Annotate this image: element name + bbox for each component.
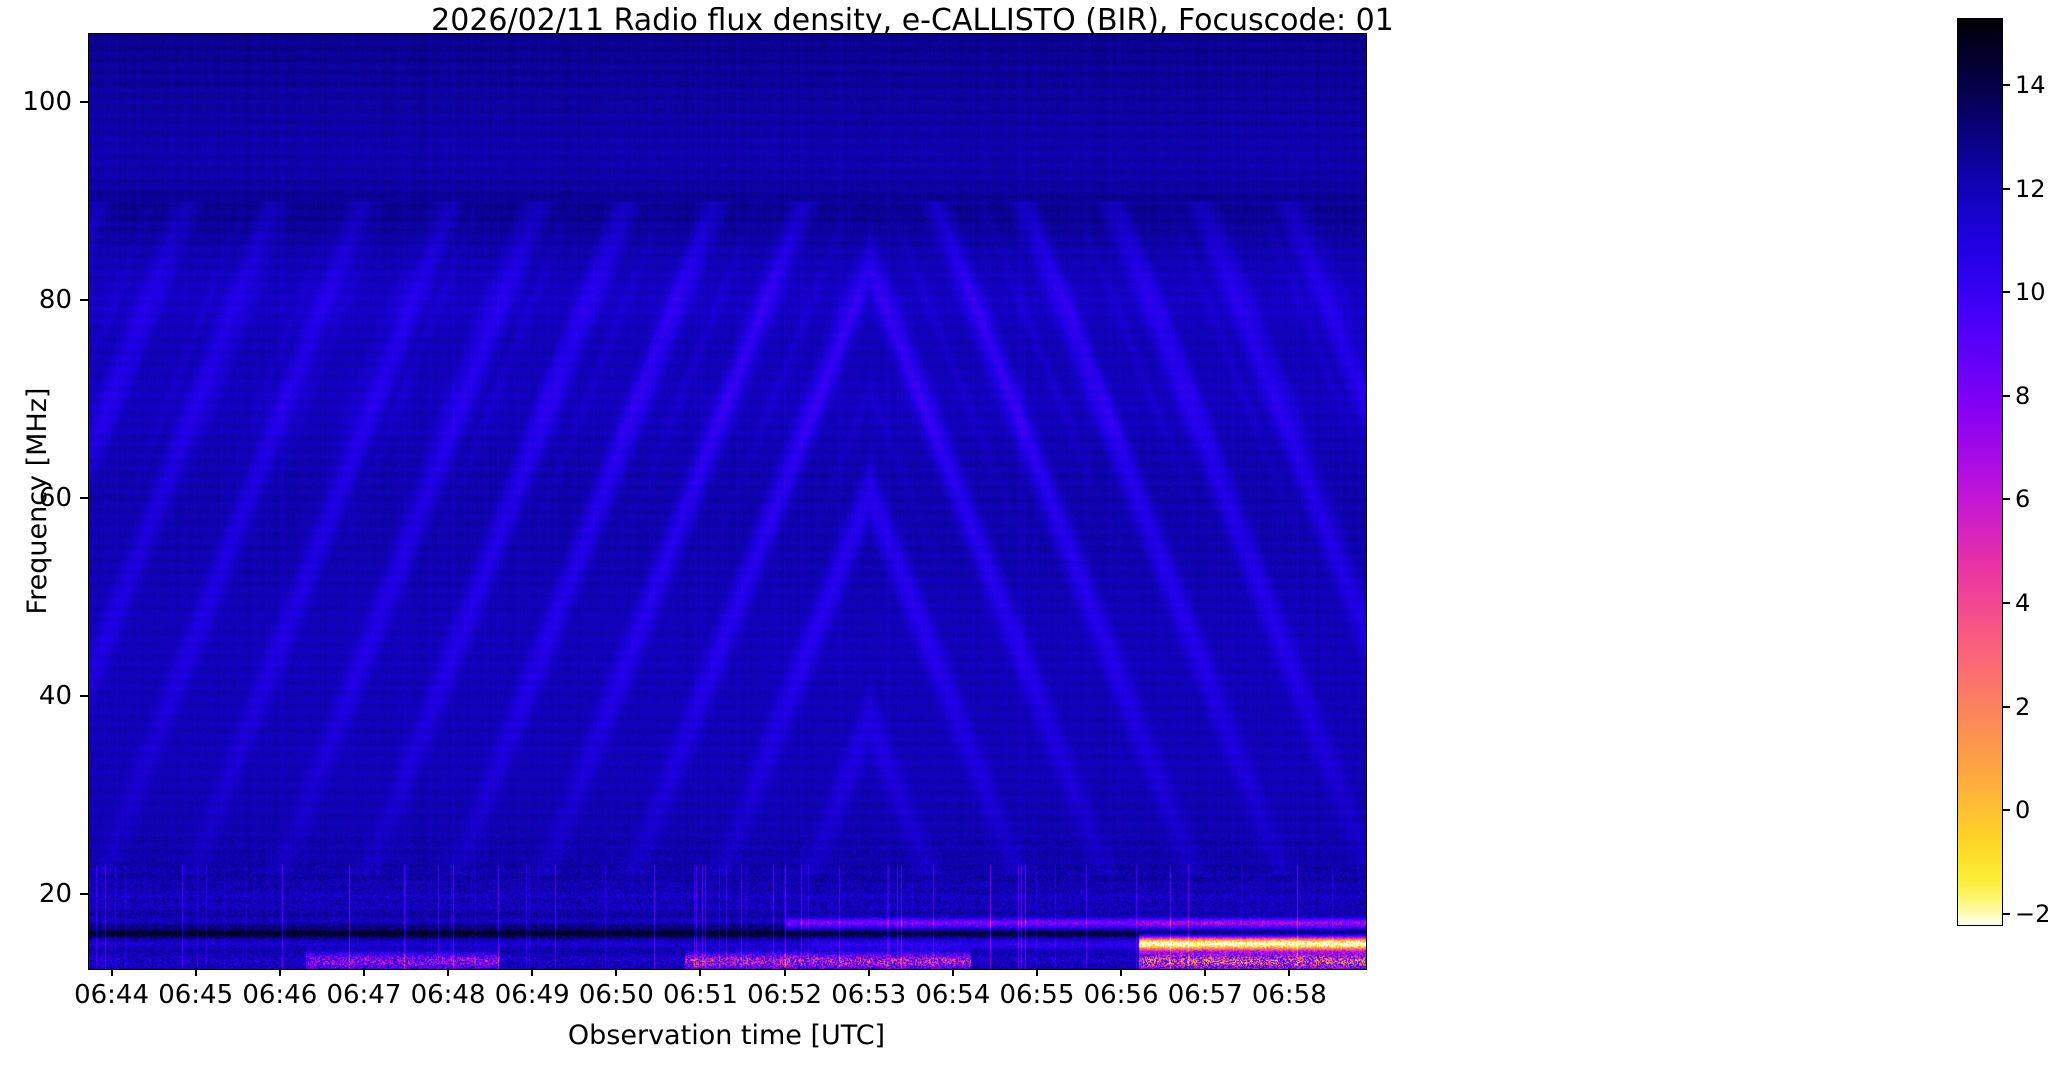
y-tick-label: 100 — [10, 87, 72, 117]
colorbar-tick-mark — [2002, 188, 2010, 190]
y-tick-mark — [80, 497, 88, 499]
x-axis-label: Observation time [UTC] — [568, 1020, 885, 1051]
colorbar-tick-label: 10 — [2015, 278, 2046, 306]
y-tick-label: 80 — [10, 285, 72, 315]
x-tick-mark — [111, 968, 113, 976]
x-tick-mark — [615, 968, 617, 976]
y-tick-label: 20 — [10, 879, 72, 909]
colorbar-tick-label: 0 — [2015, 796, 2030, 824]
x-tick-mark — [1204, 968, 1206, 976]
colorbar-tick-label: 8 — [2015, 382, 2030, 410]
x-tick-mark — [195, 968, 197, 976]
y-tick-label: 40 — [10, 681, 72, 711]
x-tick-mark — [363, 968, 365, 976]
colorbar-tick-label: −2 — [2015, 900, 2050, 928]
colorbar-tick-label: 2 — [2015, 693, 2030, 721]
y-tick-mark — [80, 695, 88, 697]
x-tick-mark — [952, 968, 954, 976]
y-tick-mark — [80, 893, 88, 895]
x-tick-mark — [279, 968, 281, 976]
x-tick-mark — [531, 968, 533, 976]
colorbar-tick-label: 6 — [2015, 485, 2030, 513]
x-tick-mark — [1288, 968, 1290, 976]
x-tick-mark — [1120, 968, 1122, 976]
x-tick-mark — [868, 968, 870, 976]
x-tick-mark — [699, 968, 701, 976]
colorbar-tick-label: 14 — [2015, 71, 2046, 99]
x-tick-label: 06:58 — [1209, 980, 1369, 1010]
colorbar-tick-label: 4 — [2015, 589, 2030, 617]
y-tick-mark — [80, 299, 88, 301]
y-tick-label: 60 — [10, 483, 72, 513]
colorbar — [1957, 18, 2003, 926]
x-tick-mark — [447, 968, 449, 976]
colorbar-tick-mark — [2002, 602, 2010, 604]
colorbar-tick-mark — [2002, 809, 2010, 811]
colorbar-tick-mark — [2002, 706, 2010, 708]
colorbar-tick-mark — [2002, 395, 2010, 397]
colorbar-tick-mark — [2002, 84, 2010, 86]
colorbar-tick-mark — [2002, 498, 2010, 500]
colorbar-gradient — [1958, 19, 2002, 925]
x-tick-mark — [1036, 968, 1038, 976]
colorbar-tick-mark — [2002, 913, 2010, 915]
spectrogram-figure: 2026/02/11 Radio flux density, e-CALLIST… — [0, 0, 2066, 1067]
colorbar-tick-mark — [2002, 291, 2010, 293]
x-tick-mark — [784, 968, 786, 976]
spectrogram-plot-area — [88, 33, 1367, 970]
spectrogram-image — [89, 34, 1366, 969]
y-tick-mark — [80, 101, 88, 103]
colorbar-tick-label: 12 — [2015, 175, 2046, 203]
